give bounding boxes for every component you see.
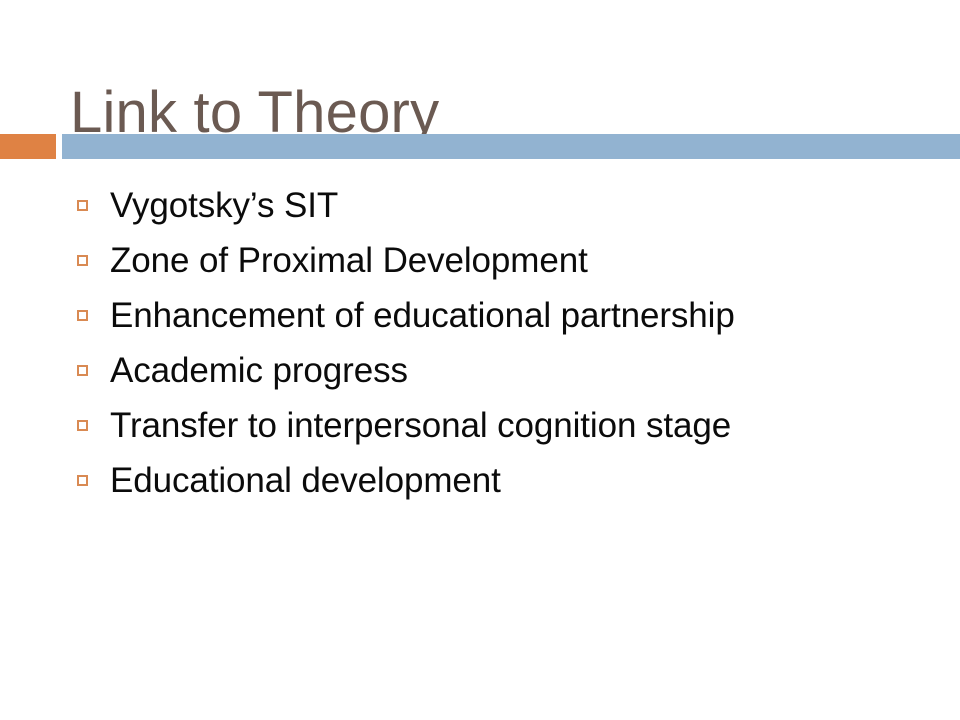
list-item: Transfer to interpersonal cognition stag… [70, 398, 940, 453]
hollow-square-bullet-icon [77, 420, 88, 431]
hollow-square-bullet-icon [77, 255, 88, 266]
hollow-square-bullet-icon [77, 365, 88, 376]
list-item: Enhancement of educational partnership [70, 288, 940, 343]
list-item: Educational development [70, 453, 940, 508]
presentation-slide: Link to Theory Vygotsky’s SIT Zone of Pr… [0, 0, 960, 720]
list-item-label: Enhancement of educational partnership [110, 298, 735, 333]
list-item-label: Educational development [110, 463, 501, 498]
list-item: Zone of Proximal Development [70, 233, 940, 288]
hollow-square-bullet-icon [77, 310, 88, 321]
list-item: Vygotsky’s SIT [70, 178, 940, 233]
orange-accent-block [0, 134, 56, 159]
list-item-label: Transfer to interpersonal cognition stag… [110, 408, 731, 443]
bullet-list: Vygotsky’s SIT Zone of Proximal Developm… [70, 178, 940, 508]
title-divider [0, 134, 960, 159]
hollow-square-bullet-icon [77, 200, 88, 211]
list-item: Academic progress [70, 343, 940, 398]
blue-divider-bar [62, 134, 960, 159]
hollow-square-bullet-icon [77, 475, 88, 486]
list-item-label: Zone of Proximal Development [110, 243, 588, 278]
list-item-label: Academic progress [110, 353, 408, 388]
list-item-label: Vygotsky’s SIT [110, 188, 338, 223]
